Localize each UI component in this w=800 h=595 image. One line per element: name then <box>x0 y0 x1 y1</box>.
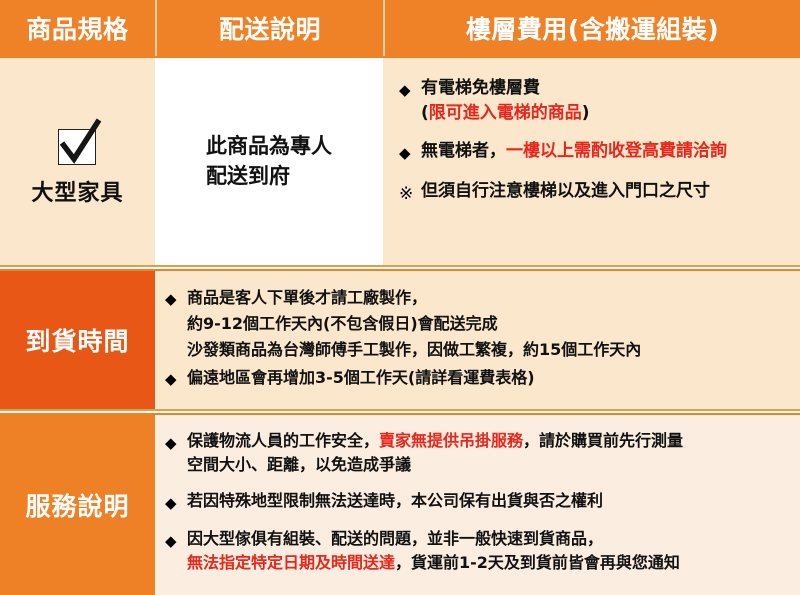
diamond-bullet-icon: ◆ <box>165 489 187 515</box>
row1-delivery-line-2: 配送到府 <box>206 162 332 192</box>
header-cell-product-spec: 商品規格 <box>0 0 155 56</box>
row3-item1-text: 保護物流人員的工作安全，賣家無提供吊掛服務，請於購買前先行測量 空間大小、距離，… <box>187 429 792 477</box>
row1-product-spec-label: 大型家具 <box>31 175 123 207</box>
row3-item3-line1: 因大型傢俱有組裝、配送的問題，並非一般快速到貨商品， <box>187 527 792 551</box>
row2-item1-line1: 商品是客人下單後才請工廠製作， <box>187 285 792 311</box>
row1-delivery-note-text: 此商品為專人 配送到府 <box>206 132 332 192</box>
row2-cell-content: ◆ 商品是客人下單後才請工廠製作， 約9-12個工作天內(不包含假日)會配送完成… <box>155 271 800 409</box>
checkmark-icon <box>52 117 104 165</box>
row1-cell-product-spec: 大型家具 <box>0 58 155 265</box>
table-header-row: 商品規格 配送說明 樓層費用(含搬運組裝) <box>0 0 800 56</box>
header-label-product-spec: 商品規格 <box>26 10 128 46</box>
row2-title-label: 到貨時間 <box>25 322 129 358</box>
header-cell-delivery-note: 配送說明 <box>155 0 383 56</box>
table-row-arrival-time: 到貨時間 ◆ 商品是客人下單後才請工廠製作， 約9-12個工作天內(不包含假日)… <box>0 269 800 411</box>
row1-item1-paren-close: ) <box>582 103 590 123</box>
row1-cell-delivery-note: 此商品為專人 配送到府 <box>155 58 383 265</box>
diamond-bullet-icon: ◆ <box>165 285 187 311</box>
row3-item1-black1: 保護物流人員的工作安全， <box>187 431 379 450</box>
row3-item1-line1: 保護物流人員的工作安全，賣家無提供吊掛服務，請於購買前先行測量 <box>187 429 792 453</box>
diamond-bullet-icon: ◆ <box>165 527 187 553</box>
row1-item2-black: 無電梯者， <box>421 141 506 161</box>
row2-item1-line2: 約9-12個工作天內(不包含假日)會配送完成 <box>187 311 792 337</box>
row3-item3-black2: ，貨運前1-2天及到貨前皆會再與您通知 <box>395 553 680 572</box>
list-item: ◆ 若因特殊地型限制無法送達時，本公司保有出貨與否之權利 <box>165 489 792 515</box>
row3-item3-line2: 無法指定特定日期及時間送達，貨運前1-2天及到貨前皆會再與您通知 <box>187 551 792 575</box>
header-label-floor-fee: 樓層費用(含搬運組裝) <box>466 10 719 46</box>
diamond-bullet-icon: ◆ <box>165 429 187 455</box>
row3-cell-title: 服務說明 <box>0 415 155 595</box>
row3-title-label: 服務說明 <box>25 487 129 523</box>
row3-item2-text: 若因特殊地型限制無法送達時，本公司保有出貨與否之權利 <box>187 489 792 513</box>
list-item: ◆ 因大型傢俱有組裝、配送的問題，並非一般快速到貨商品， 無法指定特定日期及時間… <box>165 527 792 575</box>
row3-item1-black2: ，請於購買前先行測量 <box>523 431 683 450</box>
row2-item1-text: 商品是客人下單後才請工廠製作， 約9-12個工作天內(不包含假日)會配送完成 沙… <box>187 285 792 363</box>
row3-cell-content: ◆ 保護物流人員的工作安全，賣家無提供吊掛服務，請於購買前先行測量 空間大小、距… <box>155 415 800 595</box>
row1-item2-text: 無電梯者，一樓以上需酌收登高費請洽詢 <box>421 139 792 164</box>
row3-item3-red: 無法指定特定日期及時間送達 <box>187 553 395 572</box>
header-label-delivery-note: 配送說明 <box>219 10 321 46</box>
row1-cell-floor-fee: ◆ 有電梯免樓層費 (限可進入電梯的商品) ◆ 無電梯者，一樓以上需酌收登高費請… <box>383 58 800 265</box>
row1-item1-line2: (限可進入電梯的商品) <box>421 101 792 126</box>
diamond-bullet-icon: ◆ <box>165 365 187 391</box>
row1-item1-paren-open: ( <box>421 103 429 123</box>
row1-item1-red: 限可進入電梯的商品 <box>429 103 582 123</box>
reference-mark-icon: ※ <box>399 179 421 208</box>
row3-item1-red: 賣家無提供吊掛服務 <box>379 431 523 450</box>
row1-item1-line1: 有電梯免樓層費 <box>421 76 792 101</box>
list-item: ◆ 有電梯免樓層費 (限可進入電梯的商品) <box>399 76 792 125</box>
header-cell-floor-fee: 樓層費用(含搬運組裝) <box>383 0 800 56</box>
row1-item3-text: 但須自行注意樓梯以及進入門口之尺寸 <box>421 179 792 204</box>
row1-delivery-line-1: 此商品為專人 <box>206 132 332 162</box>
row2-cell-title: 到貨時間 <box>0 271 155 409</box>
row3-item3-text: 因大型傢俱有組裝、配送的問題，並非一般快速到貨商品， 無法指定特定日期及時間送達… <box>187 527 792 575</box>
row2-item2-text: 偏遠地區會再增加3-5個工作天(請詳看運費表格) <box>187 365 792 391</box>
list-item: ※ 但須自行注意樓梯以及進入門口之尺寸 <box>399 179 792 208</box>
checked-checkbox-icon <box>52 117 104 165</box>
table-row-large-furniture: 大型家具 此商品為專人 配送到府 ◆ 有電梯免樓層費 (限可進入電梯的商品) ◆… <box>0 56 800 267</box>
table-row-service-note: 服務說明 ◆ 保護物流人員的工作安全，賣家無提供吊掛服務，請於購買前先行測量 空… <box>0 413 800 595</box>
list-item: ◆ 保護物流人員的工作安全，賣家無提供吊掛服務，請於購買前先行測量 空間大小、距… <box>165 429 792 477</box>
row2-item1-line3: 沙發類商品為台灣師傅手工製作，因做工繁複，約15個工作天內 <box>187 337 792 363</box>
list-item: ◆ 商品是客人下單後才請工廠製作， 約9-12個工作天內(不包含假日)會配送完成… <box>165 285 792 363</box>
diamond-bullet-icon: ◆ <box>399 76 421 102</box>
list-item: ◆ 無電梯者，一樓以上需酌收登高費請洽詢 <box>399 139 792 165</box>
row1-item1-text: 有電梯免樓層費 (限可進入電梯的商品) <box>421 76 792 125</box>
list-item: ◆ 偏遠地區會再增加3-5個工作天(請詳看運費表格) <box>165 365 792 391</box>
shipping-info-table: 商品規格 配送說明 樓層費用(含搬運組裝) 大型家具 此商品為專人 配送到府 <box>0 0 800 595</box>
row3-item1-line2: 空間大小、距離，以免造成爭議 <box>187 453 792 477</box>
diamond-bullet-icon: ◆ <box>399 139 421 165</box>
row1-item2-red: 一樓以上需酌收登高費請洽詢 <box>506 141 727 161</box>
